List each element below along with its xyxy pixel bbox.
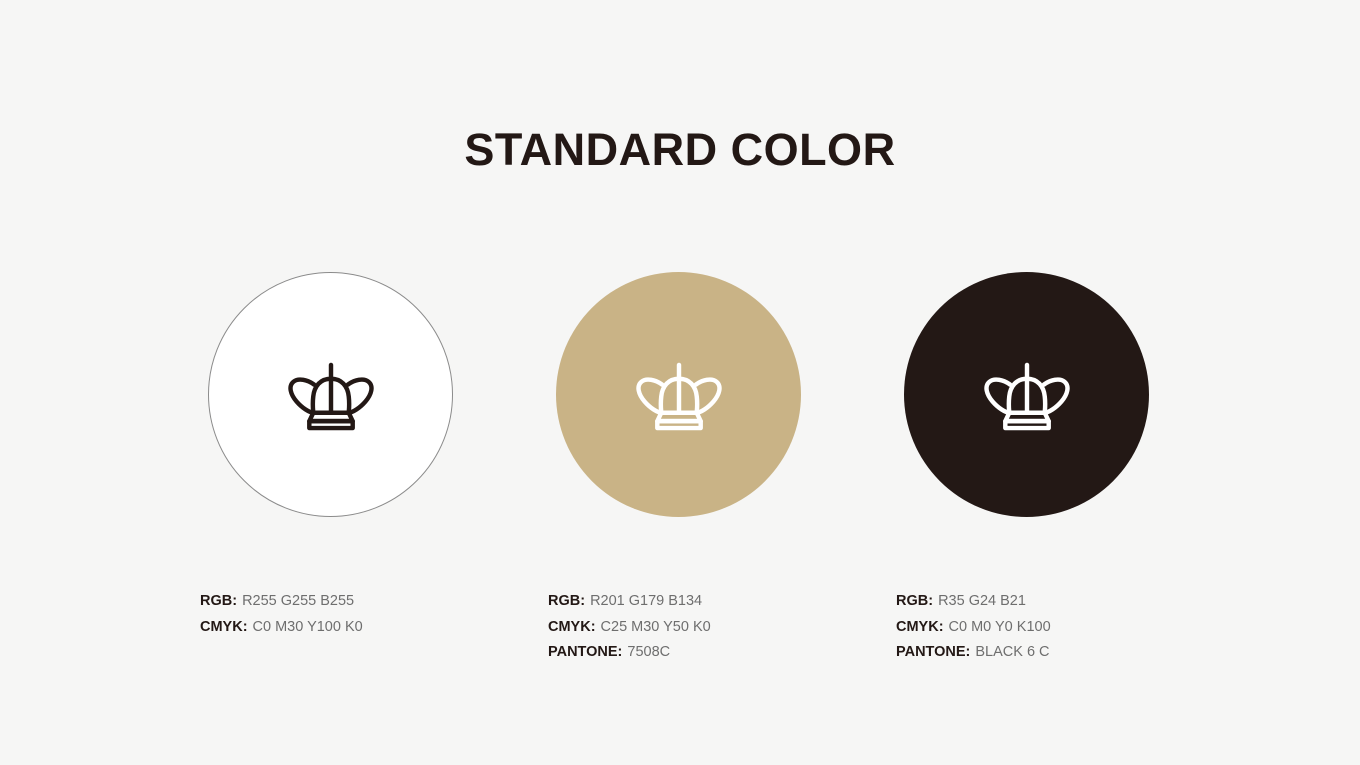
spec-pantone-label: PANTONE: — [548, 644, 622, 660]
color-swatch-white: RGB:R255 G255 B255 CMYK:C0 M30 Y100 K0 — [156, 272, 504, 517]
color-circle-gold — [556, 272, 801, 517]
spec-cmyk-label: CMYK: — [548, 619, 596, 635]
spec-rgb-value: R201 G179 B134 — [590, 593, 702, 609]
spec-cmyk-value: C0 M30 Y100 K0 — [253, 619, 363, 635]
spec-cmyk: CMYK:C0 M0 Y0 K100 — [896, 615, 1216, 641]
color-circle-white — [208, 272, 453, 517]
spec-rgb-label: RGB: — [548, 593, 585, 609]
spec-pantone: PANTONE:7508C — [548, 640, 868, 666]
crown-icon — [631, 360, 727, 432]
crown-icon — [979, 360, 1075, 432]
spec-rgb: RGB:R201 G179 B134 — [548, 589, 868, 615]
spec-cmyk-value: C0 M0 Y0 K100 — [949, 619, 1051, 635]
color-specs-black: RGB:R35 G24 B21 CMYK:C0 M0 Y0 K100 PANTO… — [896, 589, 1216, 666]
page-title: STANDARD COLOR — [0, 122, 1360, 178]
spec-rgb: RGB:R255 G255 B255 — [200, 589, 520, 615]
spec-cmyk-label: CMYK: — [200, 619, 248, 635]
spec-pantone-value: 7508C — [627, 644, 670, 660]
spec-cmyk-label: CMYK: — [896, 619, 944, 635]
spec-rgb-value: R255 G255 B255 — [242, 593, 354, 609]
crown-icon — [283, 360, 379, 432]
spec-rgb-label: RGB: — [896, 593, 933, 609]
spec-cmyk: CMYK:C25 M30 Y50 K0 — [548, 615, 868, 641]
spec-cmyk-value: C25 M30 Y50 K0 — [601, 619, 711, 635]
color-swatch-row: RGB:R255 G255 B255 CMYK:C0 M30 Y100 K0 R… — [0, 272, 1360, 692]
color-swatch-gold: RGB:R201 G179 B134 CMYK:C25 M30 Y50 K0 P… — [504, 272, 852, 517]
spec-pantone: PANTONE:BLACK 6 C — [896, 640, 1216, 666]
spec-cmyk: CMYK:C0 M30 Y100 K0 — [200, 615, 520, 641]
spec-pantone-label: PANTONE: — [896, 644, 970, 660]
spec-rgb: RGB:R35 G24 B21 — [896, 589, 1216, 615]
spec-rgb-value: R35 G24 B21 — [938, 593, 1026, 609]
color-circle-black — [904, 272, 1149, 517]
color-specs-white: RGB:R255 G255 B255 CMYK:C0 M30 Y100 K0 — [200, 589, 520, 640]
color-specs-gold: RGB:R201 G179 B134 CMYK:C25 M30 Y50 K0 P… — [548, 589, 868, 666]
spec-pantone-value: BLACK 6 C — [975, 644, 1049, 660]
spec-rgb-label: RGB: — [200, 593, 237, 609]
color-swatch-black: RGB:R35 G24 B21 CMYK:C0 M0 Y0 K100 PANTO… — [852, 272, 1200, 517]
